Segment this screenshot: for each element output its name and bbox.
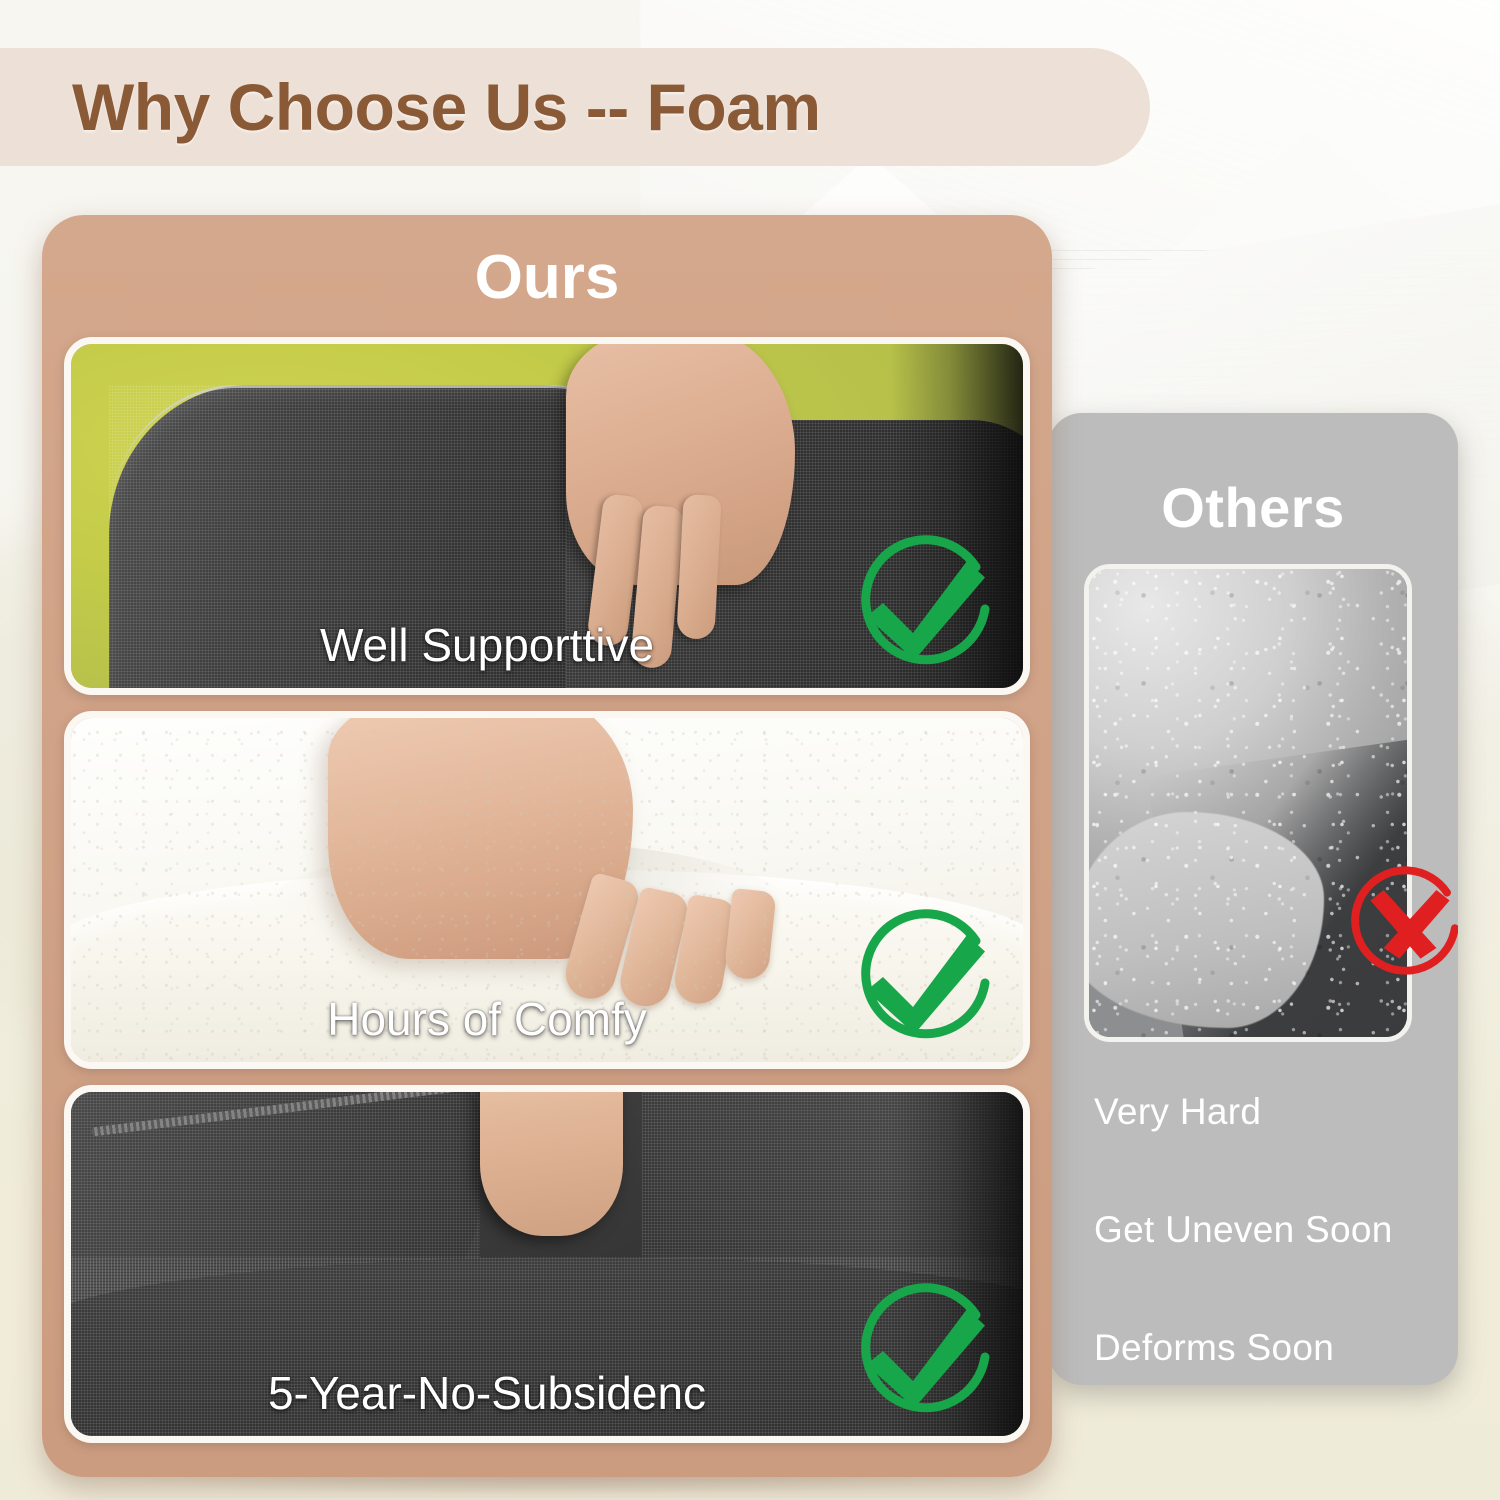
check-mark-icon	[847, 1276, 997, 1426]
drawbacks-list: Very Hard Get Uneven Soon Deforms Soon	[1094, 1091, 1444, 1369]
others-panel-title: Others	[1048, 475, 1458, 540]
title-banner: Why Choose Us -- Foam	[0, 48, 1150, 166]
page-title: Why Choose Us -- Foam	[72, 69, 821, 145]
others-panel: Others Very Hard Get Uneven Soon Deforms…	[1048, 413, 1458, 1385]
ours-card-3: 5-Year-No-Subsidenc	[64, 1085, 1030, 1443]
infographic-canvas: Why Choose Us -- Foam Others Very Hard G…	[0, 0, 1500, 1500]
list-item: Very Hard	[1094, 1091, 1444, 1133]
ours-card-2: Hours of Comfy	[64, 711, 1030, 1069]
list-item: Deforms Soon	[1094, 1327, 1444, 1369]
photo3-leg	[480, 1085, 623, 1236]
ours-panel: Ours Well Supporttive	[42, 215, 1052, 1477]
cross-mark-icon	[1344, 853, 1458, 985]
list-item: Get Uneven Soon	[1094, 1209, 1444, 1251]
check-mark-icon	[847, 528, 997, 678]
ours-panel-title: Ours	[42, 242, 1052, 313]
ours-card-1: Well Supporttive	[64, 337, 1030, 695]
check-mark-icon	[847, 902, 997, 1052]
